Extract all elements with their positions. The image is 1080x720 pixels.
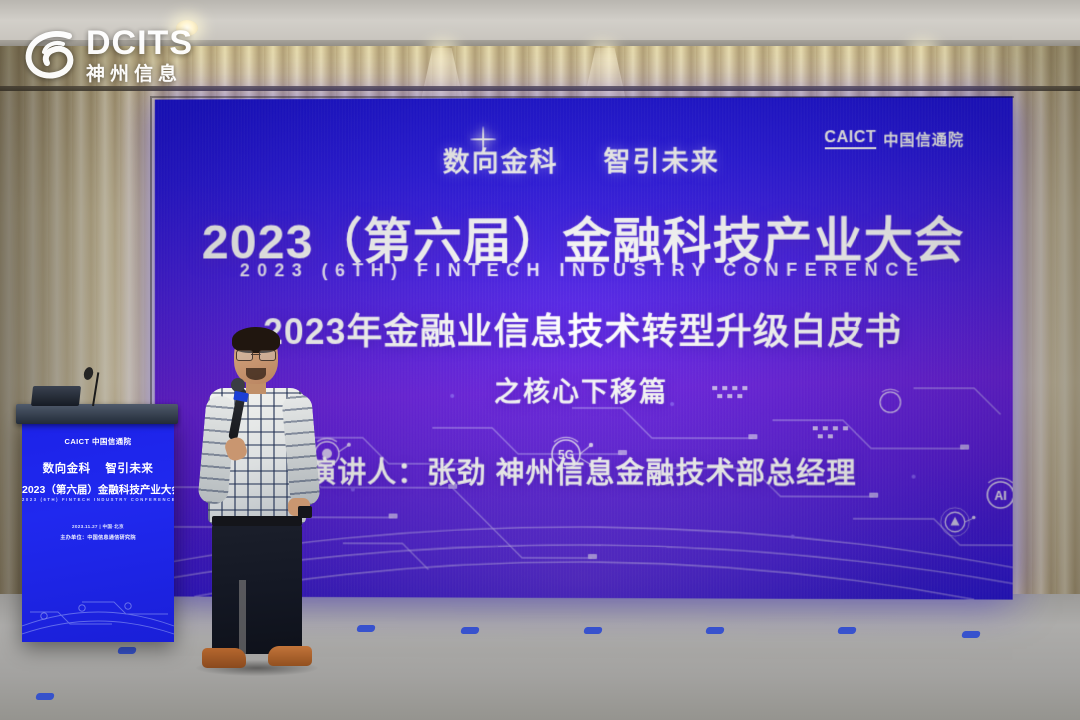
node-icon	[868, 380, 912, 424]
podium-tagline: 数向金科 智引未来	[22, 460, 174, 476]
floor-marker	[35, 693, 54, 700]
node-icon	[932, 499, 979, 545]
conference-stage-photo: CAICT 中国信通院 数向金科 智引未来 2023（第六届）金融科技产业大会 …	[0, 0, 1080, 720]
podium-desktop	[16, 404, 178, 424]
svg-text:5G: 5G	[558, 448, 574, 462]
floor-marker	[583, 627, 602, 634]
speaker-trousers	[212, 522, 302, 654]
tagline-part1: 数向金科	[443, 147, 559, 177]
floor-marker	[705, 627, 724, 634]
dcits-brand-cn: 神州信息	[86, 65, 193, 84]
podium-title-cn: 2023（第六届）金融科技产业大会	[22, 482, 174, 497]
tagline-part2: 智引未来	[604, 147, 720, 177]
svg-text:AI: AI	[994, 489, 1006, 503]
dcits-swirl-icon	[22, 26, 80, 84]
floor-marker	[460, 627, 479, 634]
speaker-person	[196, 330, 318, 682]
speaker-shoe-right	[268, 646, 312, 666]
speaker-beard	[246, 368, 266, 380]
glasses-icon	[236, 350, 276, 359]
podium-laptop	[31, 386, 81, 406]
podium-date-location: 2023.11.27 | 中国·北京	[22, 524, 174, 530]
dcits-brand-en: DCITS	[86, 26, 193, 60]
dcits-watermark: DCITS 神州信息	[22, 22, 232, 88]
podium-caict-logo: CAICT 中国信通院	[22, 436, 174, 447]
podium-host: 主办单位：中国信息通信研究院	[22, 534, 174, 541]
speaker-belt	[212, 516, 302, 526]
event-tagline: 数向金科 智引未来	[155, 139, 1013, 180]
podium-circuit-decoration	[22, 572, 174, 642]
floor-marker	[356, 625, 375, 632]
microphone-head-icon	[231, 378, 245, 392]
podium-tagline-part1: 数向金科	[43, 463, 91, 475]
podium-tagline-part2: 智引未来	[105, 463, 153, 475]
podium-title-en: 2023 (6TH) FINTECH INDUSTRY CONFERENCE	[22, 497, 174, 502]
speaker-leg-gap	[239, 580, 246, 656]
presentation-clicker	[298, 506, 312, 518]
badge-5g: 5G	[544, 428, 596, 480]
floor-marker	[837, 627, 856, 634]
speaker-shoe-left	[202, 648, 246, 668]
badge-ai: AI	[976, 469, 1012, 521]
floor-marker	[117, 647, 136, 654]
podium: CAICT 中国信通院 数向金科 智引未来 2023（第六届）金融科技产业大会 …	[22, 420, 174, 642]
floor-marker	[961, 631, 980, 638]
conference-title-en: 2023 (6TH) FINTECH INDUSTRY CONFERENCE	[155, 259, 1013, 281]
